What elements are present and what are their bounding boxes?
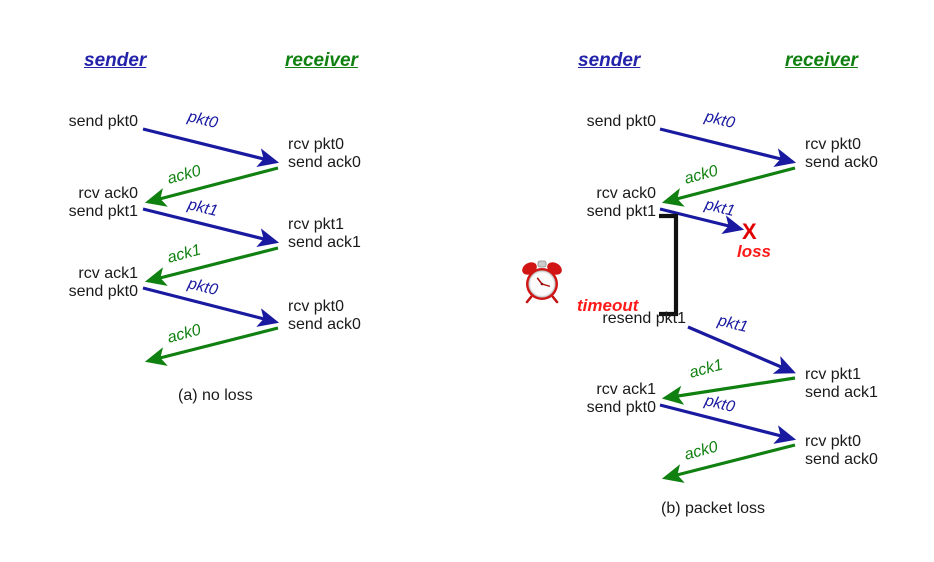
panel-b-label-pkt1-resend: pkt1 — [716, 312, 750, 337]
panel-a-label-pkt1: pkt1 — [186, 196, 220, 221]
panel-b-label-pkt0-1: pkt0 — [703, 108, 737, 133]
panel-b-label-pkt1-lost: pkt1 — [703, 196, 737, 221]
panel-b-receiver-event-3: rcv pkt0 send ack0 — [805, 433, 934, 469]
panel-b-timeout-bracket — [659, 216, 676, 314]
panel-b-sender-event-2: rcv ack0 send pkt1 — [500, 185, 656, 221]
panel-a-sender-event-3: rcv ack1 send pkt0 — [0, 265, 138, 301]
panel-a-label-ack0-1: ack0 — [166, 163, 203, 189]
timeout-label: timeout — [577, 296, 638, 316]
panel-b-receiver-event-1: rcv pkt0 send ack0 — [805, 136, 934, 172]
panel-b-sender-event-4: rcv ack1 send pkt0 — [500, 381, 656, 417]
panel-a-label-pkt0-1: pkt0 — [186, 108, 220, 133]
panel-b-header-receiver: receiver — [785, 50, 858, 72]
packet-loss-label: loss — [737, 242, 771, 262]
panel-b-label-ack0-2: ack0 — [683, 439, 720, 465]
panel-b-header-sender: sender — [578, 50, 640, 72]
panel-a-sender-event-2: rcv ack0 send pkt1 — [0, 185, 138, 221]
panel-b-sender-event-1: send pkt0 — [500, 113, 656, 131]
panel-b-receiver-event-2: rcv pkt1 send ack1 — [805, 366, 934, 402]
panel-a-label-pkt0-2: pkt0 — [186, 275, 220, 300]
panel-a-label-ack0-2: ack0 — [166, 322, 203, 348]
alarm-clock-icon — [519, 258, 565, 304]
panel-a-receiver-event-1: rcv pkt0 send ack0 — [288, 136, 448, 172]
panel-b-arrow-ack1 — [665, 378, 795, 398]
arrows-layer — [0, 0, 934, 562]
panel-b-label-pkt0-2: pkt0 — [703, 392, 737, 417]
panel-b-label-ack1: ack1 — [688, 357, 725, 383]
panel-a-sender-event-1: send pkt0 — [0, 113, 138, 131]
panel-a-arrow-pkt0-1 — [143, 129, 276, 162]
panel-b-label-ack0-1: ack0 — [683, 163, 720, 189]
panel-a-caption: (a) no loss — [178, 387, 253, 405]
panel-a-receiver-event-3: rcv pkt0 send ack0 — [288, 298, 448, 334]
panel-a-header-receiver: receiver — [285, 50, 358, 72]
panel-b-arrow-pkt0-1 — [660, 129, 793, 162]
figure-canvas: sender receiver send pkt0 rcv ack0 send … — [0, 0, 934, 562]
panel-a-label-ack1: ack1 — [166, 242, 203, 268]
panel-a-header-sender: sender — [84, 50, 146, 72]
panel-a-receiver-event-2: rcv pkt1 send ack1 — [288, 216, 448, 252]
panel-b-caption: (b) packet loss — [661, 500, 765, 518]
